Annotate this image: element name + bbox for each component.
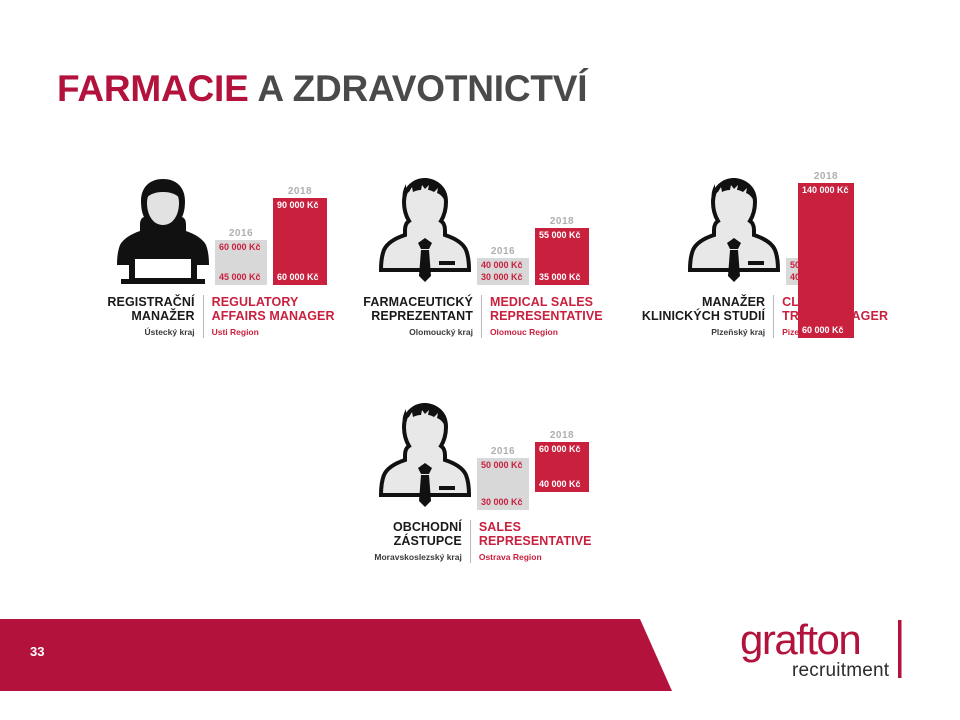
job-region-en: Olomouc Region: [490, 326, 603, 338]
group-visual-row: 2016 50 000 Kč 40 000 Kč 2018 140 000 Kč…: [640, 165, 890, 285]
person-laptop-icon: [115, 173, 211, 285]
page-number: 33: [30, 644, 44, 659]
page-title: FARMACIE A ZDRAVOTNICTVÍ: [57, 68, 587, 110]
bar-2016-max: 50 000 Kč: [481, 460, 525, 471]
bar-2016-wrap: 2016 40 000 Kč 30 000 Kč: [477, 246, 529, 285]
bar-2016: 50 000 Kč 30 000 Kč: [477, 458, 529, 510]
bar-2018: 140 000 Kč 60 000 Kč: [798, 183, 854, 338]
job-labels: OBCHODNÍ ZÁSTUPCE Moravskoslezský kraj S…: [358, 520, 608, 563]
bar-year-2016: 2016: [215, 228, 267, 239]
slide-canvas: FARMACIE A ZDRAVOTNICTVÍ 2016 60 0: [0, 0, 960, 720]
svg-text:grafton: grafton: [740, 616, 860, 663]
bar-2018: 90 000 Kč 60 000 Kč: [273, 198, 327, 285]
job-label-cz: MANAŽER KLINICKÝCH STUDIÍ Plzeňský kraj: [642, 295, 774, 338]
bar-2018-max: 60 000 Kč: [539, 444, 585, 455]
job-group-obchodni-zastupce: 2016 50 000 Kč 30 000 Kč 2018 60 000 Kč …: [358, 390, 608, 563]
person-tie-icon: [686, 173, 782, 285]
job-title-cz: REGISTRAČNÍ MANAŽER: [107, 295, 194, 323]
job-region-cz: Moravskoslezský kraj: [374, 551, 461, 563]
bar-2018-min: 60 000 Kč: [277, 272, 323, 283]
job-region-cz: Ústecký kraj: [107, 326, 194, 338]
job-label-en: REGULATORY AFFAIRS MANAGER Usti Region: [204, 295, 335, 338]
job-label-cz: OBCHODNÍ ZÁSTUPCE Moravskoslezský kraj: [374, 520, 470, 563]
bar-2016-wrap: 2016 60 000 Kč 45 000 Kč: [215, 228, 267, 285]
bar-2018-wrap: 2018 90 000 Kč 60 000 Kč: [273, 186, 327, 285]
bar-2016-wrap: 2016 50 000 Kč 30 000 Kč: [477, 446, 529, 510]
job-region-en: Usti Region: [212, 326, 335, 338]
bar-2018-min: 60 000 Kč: [802, 325, 850, 336]
job-region-cz: Olomoucký kraj: [363, 326, 473, 338]
page-title-dark: A ZDRAVOTNICTVÍ: [257, 68, 587, 109]
person-tie-icon: [377, 398, 473, 510]
bar-year-2018: 2018: [535, 430, 589, 441]
job-group-manazer-klinickych-studii: 2016 50 000 Kč 40 000 Kč 2018 140 000 Kč…: [640, 165, 890, 338]
bar-2016-max: 60 000 Kč: [219, 242, 263, 253]
bar-2016-min: 45 000 Kč: [219, 272, 263, 283]
bar-2018-max: 90 000 Kč: [277, 200, 323, 211]
bar-2016: 40 000 Kč 30 000 Kč: [477, 258, 529, 285]
job-region-cz: Plzeňský kraj: [642, 326, 765, 338]
job-label-cz: REGISTRAČNÍ MANAŽER Ústecký kraj: [107, 295, 203, 338]
bar-2016-min: 30 000 Kč: [481, 497, 525, 508]
job-label-en: MEDICAL SALES REPRESENTATIVE Olomouc Reg…: [482, 295, 603, 338]
job-title-en: MEDICAL SALES REPRESENTATIVE: [490, 295, 603, 323]
bar-2018-max: 55 000 Kč: [539, 230, 585, 241]
group-visual-row: 2016 40 000 Kč 30 000 Kč 2018 55 000 Kč …: [358, 165, 608, 285]
bar-2016-min: 30 000 Kč: [481, 272, 525, 283]
salary-bars: 2016 50 000 Kč 30 000 Kč 2018 60 000 Kč …: [477, 390, 589, 510]
bar-year-2016: 2016: [477, 246, 529, 257]
grafton-logo: grafton recruitment: [740, 614, 920, 686]
job-group-registracni-manazer: 2016 60 000 Kč 45 000 Kč 2018 90 000 Kč …: [96, 165, 346, 338]
salary-bars: 2016 40 000 Kč 30 000 Kč 2018 55 000 Kč …: [477, 165, 589, 285]
bar-2016: 60 000 Kč 45 000 Kč: [215, 240, 267, 285]
job-label-cz: FARMACEUTICKÝ REPREZENTANT Olomoucký kra…: [363, 295, 482, 338]
bar-year-2018: 2018: [273, 186, 327, 197]
job-title-cz: MANAŽER KLINICKÝCH STUDIÍ: [642, 295, 765, 323]
bar-year-2018: 2018: [798, 171, 854, 182]
bar-2016-max: 40 000 Kč: [481, 260, 525, 271]
bar-2018-wrap: 2018 55 000 Kč 35 000 Kč: [535, 216, 589, 285]
page-title-red: FARMACIE: [57, 68, 249, 109]
bar-2018: 55 000 Kč 35 000 Kč: [535, 228, 589, 285]
job-labels: REGISTRAČNÍ MANAŽER Ústecký kraj REGULAT…: [96, 295, 346, 338]
svg-text:recruitment: recruitment: [792, 660, 890, 681]
bar-2018-min: 35 000 Kč: [539, 272, 585, 283]
group-visual-row: 2016 50 000 Kč 30 000 Kč 2018 60 000 Kč …: [358, 390, 608, 510]
bar-2018-max: 140 000 Kč: [802, 185, 850, 196]
job-title-en: REGULATORY AFFAIRS MANAGER: [212, 295, 335, 323]
job-title-en: SALES REPRESENTATIVE: [479, 520, 592, 548]
job-label-en: SALES REPRESENTATIVE Ostrava Region: [471, 520, 592, 563]
job-labels: FARMACEUTICKÝ REPREZENTANT Olomoucký kra…: [358, 295, 608, 338]
bar-2018-wrap: 2018 60 000 Kč 40 000 Kč: [535, 430, 589, 492]
job-region-en: Ostrava Region: [479, 551, 592, 563]
group-visual-row: 2016 60 000 Kč 45 000 Kč 2018 90 000 Kč …: [96, 165, 346, 285]
person-tie-icon: [377, 173, 473, 285]
bar-2018-wrap: 2018 140 000 Kč 60 000 Kč: [798, 171, 854, 338]
bar-year-2016: 2016: [477, 446, 529, 457]
bar-year-2018: 2018: [535, 216, 589, 227]
salary-bars: 2016 60 000 Kč 45 000 Kč 2018 90 000 Kč …: [215, 165, 327, 285]
job-group-farmaceuticky-reprezentant: 2016 40 000 Kč 30 000 Kč 2018 55 000 Kč …: [358, 165, 608, 338]
salary-bars: 2016 50 000 Kč 40 000 Kč 2018 140 000 Kč…: [786, 165, 844, 285]
bar-2018-min: 40 000 Kč: [539, 479, 585, 490]
job-title-cz: OBCHODNÍ ZÁSTUPCE: [374, 520, 461, 548]
footer-band: [0, 619, 700, 691]
bar-2018: 60 000 Kč 40 000 Kč: [535, 442, 589, 492]
job-title-cz: FARMACEUTICKÝ REPREZENTANT: [363, 295, 473, 323]
